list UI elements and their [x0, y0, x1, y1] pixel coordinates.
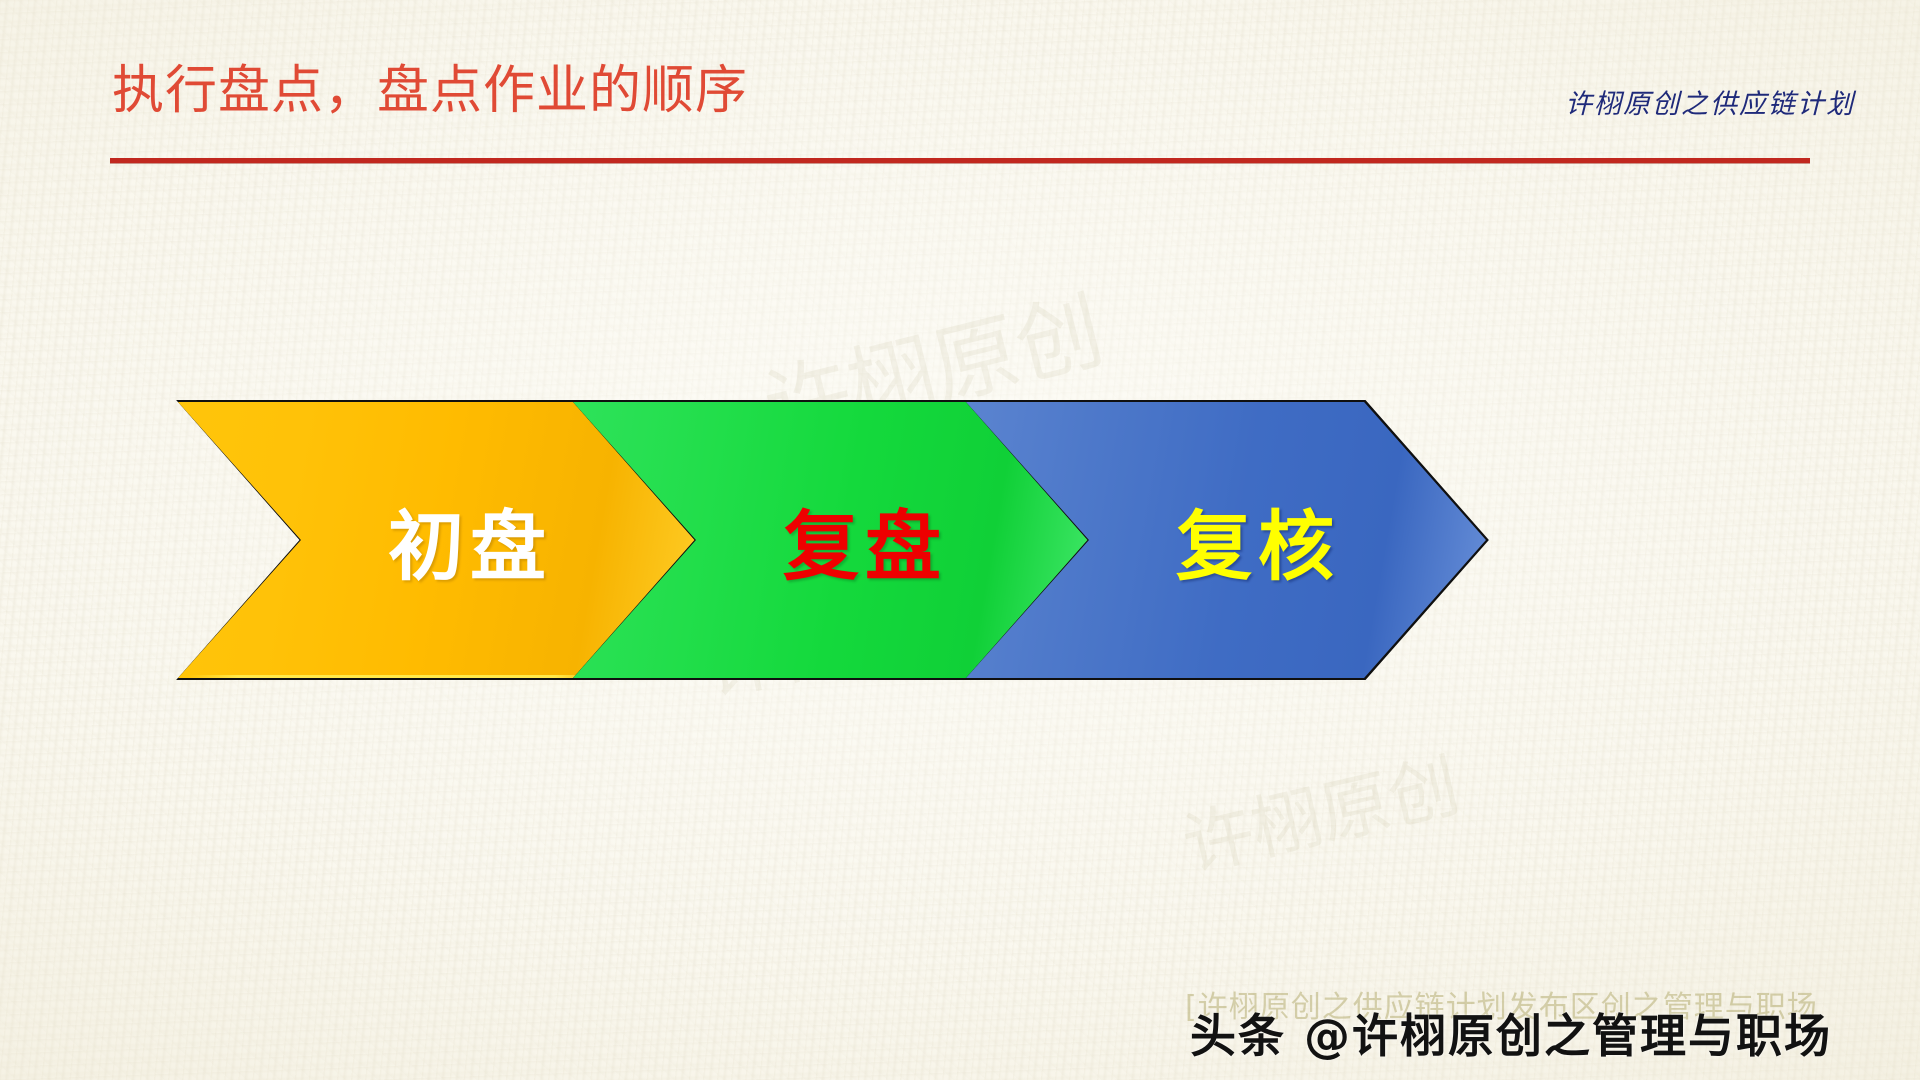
process-flow: 初盘 复盘 复核 [0, 400, 1920, 690]
author-credit: 许栩原创之供应链计划 [1565, 82, 1855, 121]
page-title: 执行盘点，盘点作业的顺序 [112, 62, 748, 122]
slide-canvas: 许栩原创 许栩原创 许栩原创 执行盘点，盘点作业的顺序 许栩原创之供应链计划 初… [0, 0, 1920, 1080]
background-watermark: 许栩原创 [1172, 730, 1468, 891]
header-divider [110, 158, 1810, 163]
footer-watermark: 头条 @许栩原创之管理与职场 [1190, 1000, 1832, 1066]
